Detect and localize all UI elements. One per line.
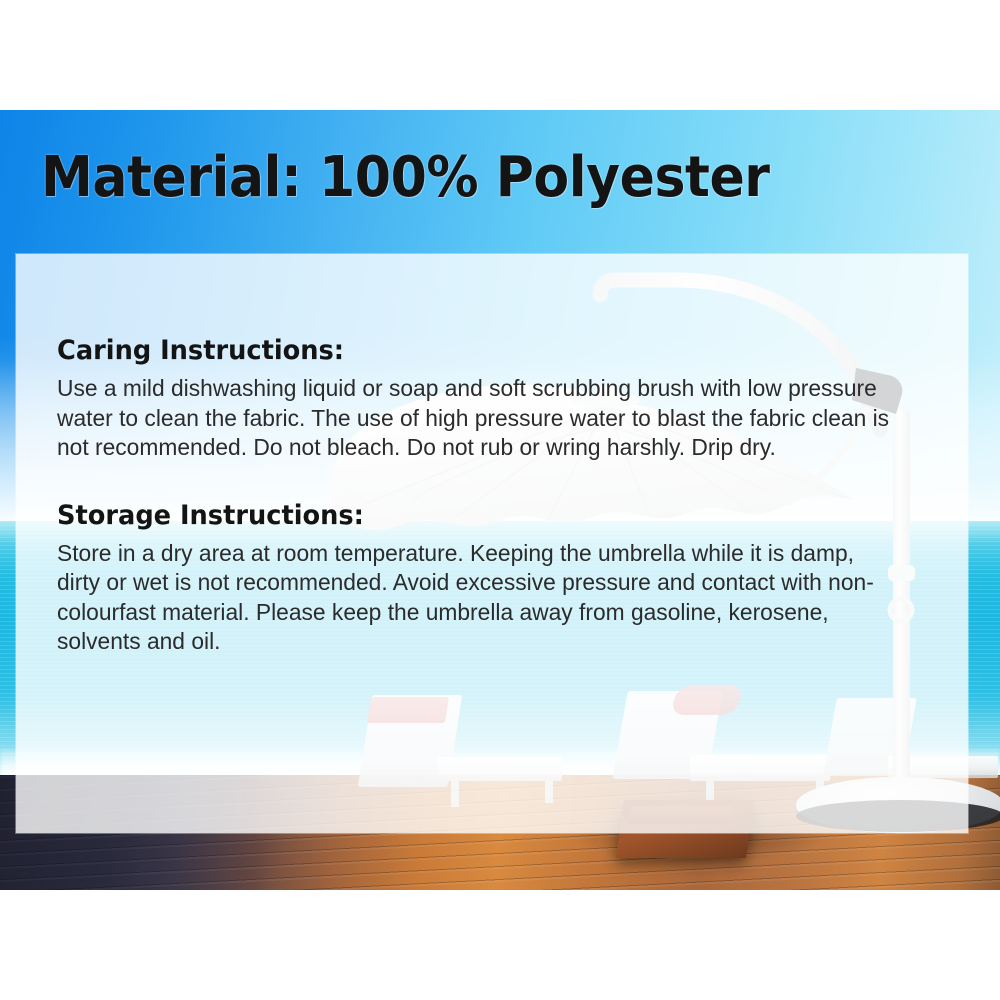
product-info-banner: Material: 100% Polyester Caring Instruct… <box>0 0 1000 1000</box>
page-title: Material: 100% Polyester <box>41 146 770 210</box>
instructions-content: Caring Instructions: Use a mild dishwash… <box>57 334 917 657</box>
caring-instructions-body: Use a mild dishwashing liquid or soap an… <box>57 374 891 463</box>
storage-instructions-body: Store in a dry area at room temperature.… <box>57 539 891 657</box>
storage-instructions-heading: Storage Instructions: <box>57 499 874 533</box>
section-storage-instructions: Storage Instructions: Store in a dry are… <box>57 499 917 657</box>
section-caring-instructions: Caring Instructions: Use a mild dishwash… <box>57 334 917 463</box>
caring-instructions-heading: Caring Instructions: <box>57 334 874 368</box>
